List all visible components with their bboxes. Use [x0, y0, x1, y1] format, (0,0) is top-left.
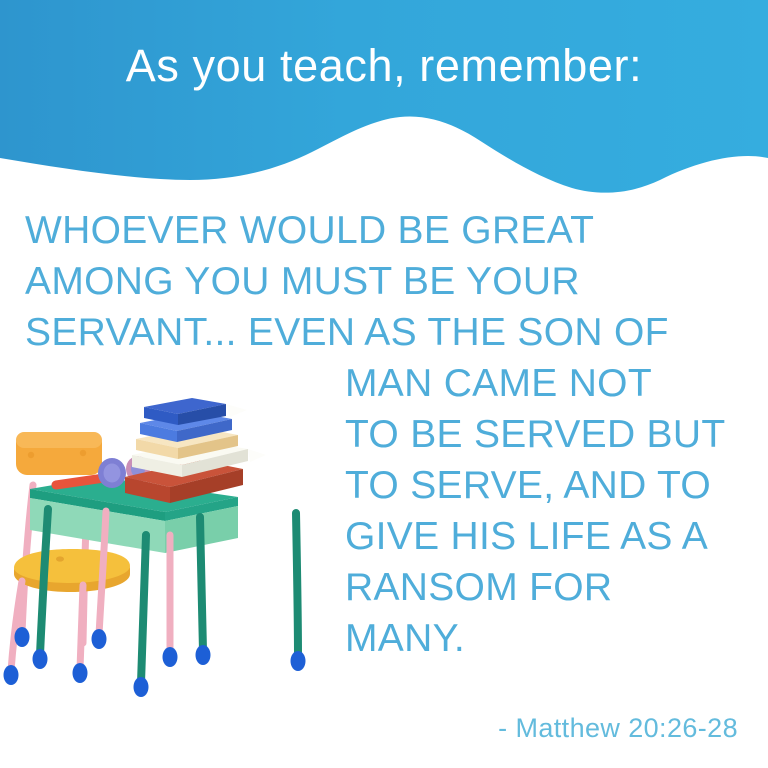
- quote-line: SERVANT... EVEN AS THE SON OF: [0, 307, 768, 358]
- quote-attribution: - Matthew 20:26-28: [0, 713, 768, 744]
- poster-canvas: As you teach, remember:: [0, 0, 768, 768]
- quote-line: AMONG YOU MUST BE YOUR: [0, 256, 768, 307]
- page-title: As you teach, remember:: [0, 40, 768, 92]
- quote-line: GIVE HIS LIFE AS A: [0, 511, 768, 562]
- quote-line: TO SERVE, AND TO: [0, 460, 768, 511]
- quote-line: MAN CAME NOT: [0, 358, 768, 409]
- header-wave-band: [0, 0, 768, 210]
- quote-line: WHOEVER WOULD BE GREAT: [0, 205, 768, 256]
- quote-text: WHOEVER WOULD BE GREAT AMONG YOU MUST BE…: [0, 205, 768, 664]
- quote-line: MANY.: [0, 613, 768, 664]
- quote-line: RANSOM FOR: [0, 562, 768, 613]
- wave-shape: [0, 0, 768, 193]
- quote-line: TO BE SERVED BUT: [0, 409, 768, 460]
